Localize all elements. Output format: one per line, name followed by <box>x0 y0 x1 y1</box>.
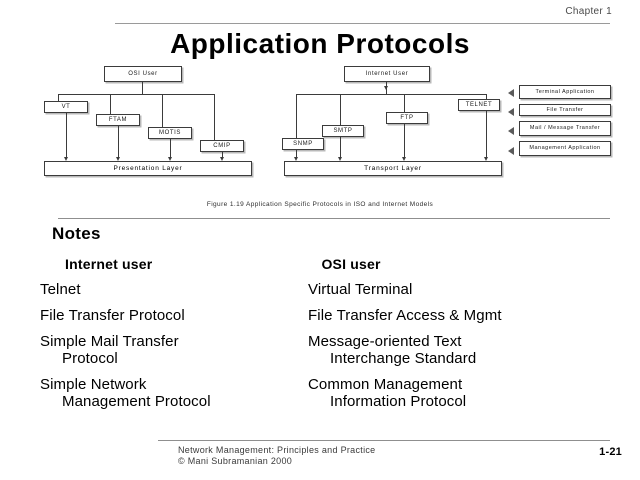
legend-label-terminal-application: Terminal Application <box>536 89 595 96</box>
notes-cell-osi: Message-oriented Text Interchange Standa… <box>308 333 620 367</box>
legend-arrow-mail-message-transfer <box>508 127 514 135</box>
notes-cell-internet: Telnet <box>40 281 308 298</box>
legend-label-management-application: Management Application <box>529 145 600 152</box>
osi-protocol-node-ftam: FTAM <box>96 114 140 126</box>
osi-protocol-node-motis: MOTIS <box>148 127 192 139</box>
internet-protocol-node-smtp: SMTP <box>322 125 364 137</box>
internet-bus-line <box>296 94 486 95</box>
internet-layer-bar: Transport Layer <box>284 161 502 176</box>
internet-root-label: Internet User <box>366 71 408 78</box>
internet-protocol-node-snmp: SNMP <box>282 138 324 150</box>
internet-drop-line-telnet <box>486 111 487 158</box>
legend-arrow-terminal-application <box>508 89 514 97</box>
internet-protocol-node-telnet: TELNET <box>458 99 500 111</box>
footer-line-2: © Mani Subramanian 2000 <box>178 456 375 467</box>
legend-label-mail-message-transfer: Mail / Message Transfer <box>530 125 600 132</box>
notes-cell-osi: Virtual Terminal <box>308 281 620 298</box>
notes-cell-line1: Virtual Terminal <box>308 281 412 298</box>
internet-protocol-label-smtp: SMTP <box>333 128 352 135</box>
internet-trunk-arrow <box>384 86 388 90</box>
osi-drop-line-vt <box>66 113 67 158</box>
internet-layer-label: Transport Layer <box>364 165 422 172</box>
osi-protocol-label-vt: VT <box>62 104 71 111</box>
legend-box-management-application: Management Application <box>519 141 611 156</box>
notes-cell-line1: Simple Mail Transfer <box>40 333 179 350</box>
osi-layer-label: Presentation Layer <box>114 165 183 172</box>
chapter-label: Chapter 1 <box>565 6 612 17</box>
osi-drop-line-ftam <box>118 126 119 158</box>
figure-caption: Figure 1.19 Application Specific Protoco… <box>0 201 640 208</box>
legend-box-terminal-application: Terminal Application <box>519 85 611 99</box>
header-divider <box>115 23 610 24</box>
osi-protocol-node-vt: VT <box>44 101 88 113</box>
osi-branch-line-cmip <box>214 94 215 140</box>
protocol-diagram: OSI User VT FTAM MOTIS CMIP Presentation… <box>0 60 640 200</box>
notes-cell-line1: File Transfer Protocol <box>40 307 185 324</box>
legend-box-file-transfer: File Transfer <box>519 104 611 116</box>
legend-arrow-management-application <box>508 147 514 155</box>
osi-branch-line-motis <box>162 94 163 127</box>
legend-arrow-file-transfer <box>508 108 514 116</box>
notes-column-header-osi: OSI user <box>321 256 620 272</box>
page-title: Application Protocols <box>0 28 640 60</box>
osi-bus-line <box>58 94 214 95</box>
notes-row: Telnet Virtual Terminal <box>40 281 620 298</box>
notes-cell-line1: File Transfer Access & Mgmt <box>308 307 502 324</box>
footer-line-1: Network Management: Principles and Pract… <box>178 445 375 456</box>
internet-root-node: Internet User <box>344 66 430 82</box>
footer-divider <box>158 440 610 441</box>
internet-protocol-label-snmp: SNMP <box>293 141 313 148</box>
osi-protocol-label-cmip: CMIP <box>213 143 230 150</box>
notes-column-header-internet: Internet user <box>40 256 321 272</box>
osi-drop-line-motis <box>170 139 171 158</box>
notes-cell-line2: Interchange Standard <box>308 350 620 367</box>
notes-table: Internet user OSI user Telnet Virtual Te… <box>40 256 620 419</box>
osi-protocol-label-motis: MOTIS <box>159 130 181 137</box>
notes-header-row: Internet user OSI user <box>40 256 620 272</box>
notes-cell-internet: Simple Mail Transfer Protocol <box>40 333 308 367</box>
osi-root-label: OSI User <box>128 71 157 78</box>
legend-label-file-transfer: File Transfer <box>546 107 583 114</box>
osi-protocol-node-cmip: CMIP <box>200 140 244 152</box>
internet-drop-line-ftp <box>404 124 405 158</box>
osi-layer-bar: Presentation Layer <box>44 161 252 176</box>
internet-protocol-node-ftp: FTP <box>386 112 428 124</box>
footer-attribution: Network Management: Principles and Pract… <box>178 445 375 467</box>
osi-trunk-line <box>142 82 143 94</box>
notes-cell-line1: Telnet <box>40 281 81 298</box>
notes-cell-line2: Information Protocol <box>308 393 620 410</box>
internet-drop-line-smtp <box>340 137 341 158</box>
notes-cell-line2: Protocol <box>40 350 308 367</box>
notes-cell-osi: Common Management Information Protocol <box>308 376 620 410</box>
internet-protocol-label-ftp: FTP <box>400 115 413 122</box>
notes-divider <box>58 218 610 219</box>
notes-cell-line1: Message-oriented Text <box>308 333 462 350</box>
notes-cell-osi: File Transfer Access & Mgmt <box>308 307 620 324</box>
notes-row: Simple Network Management Protocol Commo… <box>40 376 620 410</box>
internet-protocol-label-telnet: TELNET <box>466 102 493 109</box>
notes-cell-line1: Simple Network <box>40 376 146 393</box>
osi-branch-line-vt <box>58 94 59 101</box>
notes-cell-internet: File Transfer Protocol <box>40 307 308 324</box>
osi-root-node: OSI User <box>104 66 182 82</box>
notes-cell-line1: Common Management <box>308 376 462 393</box>
notes-cell-internet: Simple Network Management Protocol <box>40 376 308 410</box>
legend-box-mail-message-transfer: Mail / Message Transfer <box>519 121 611 136</box>
notes-cell-line2: Management Protocol <box>40 393 308 410</box>
notes-row: File Transfer Protocol File Transfer Acc… <box>40 307 620 324</box>
notes-heading: Notes <box>52 224 101 244</box>
notes-row: Simple Mail Transfer Protocol Message-or… <box>40 333 620 367</box>
page-number: 1-21 <box>599 446 622 458</box>
osi-branch-line-ftam <box>110 94 111 114</box>
osi-protocol-label-ftam: FTAM <box>109 117 127 124</box>
